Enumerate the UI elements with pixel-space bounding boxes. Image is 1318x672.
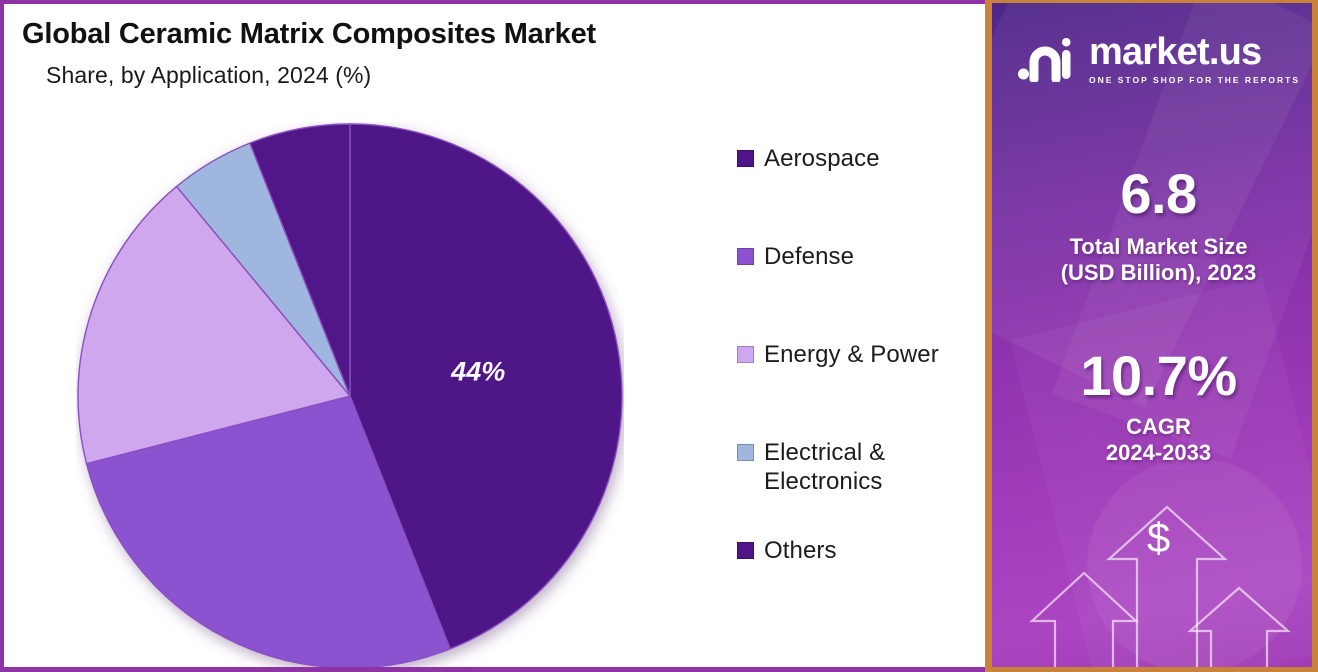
legend-item-energy-power[interactable]: Energy & Power xyxy=(737,340,977,438)
stat-cagr: 10.7% CAGR 2024-2033 xyxy=(992,348,1318,466)
legend: Aerospace Defense Energy & Power Electri… xyxy=(737,144,977,634)
legend-label-aerospace: Aerospace xyxy=(764,144,880,173)
legend-label-defense: Defense xyxy=(764,242,854,271)
page-title: Global Ceramic Matrix Composites Market xyxy=(22,18,822,50)
growth-arrows-icon xyxy=(992,487,1318,667)
legend-swatch-others xyxy=(737,542,754,559)
market-size-caption-line2: (USD Billion), 2023 xyxy=(992,260,1318,286)
legend-label-others: Others xyxy=(764,536,837,565)
cagr-value: 10.7% xyxy=(992,348,1318,404)
pie-chart-svg: 44% xyxy=(76,122,624,670)
pie-slices xyxy=(78,124,622,668)
legend-item-electrical-electronics[interactable]: Electrical & Electronics xyxy=(737,438,977,536)
bar-chart-logo-icon xyxy=(1017,36,1079,82)
stat-market-size: 6.8 Total Market Size (USD Billion), 202… xyxy=(992,166,1318,286)
logo-wordmark: market.us xyxy=(1089,33,1300,71)
market-size-value: 6.8 xyxy=(992,166,1318,222)
title-block: Global Ceramic Matrix Composites Market … xyxy=(22,18,822,89)
chart-panel: Global Ceramic Matrix Composites Market … xyxy=(0,0,985,672)
market-size-caption-line1: Total Market Size xyxy=(992,234,1318,260)
legend-swatch-aerospace xyxy=(737,150,754,167)
cagr-caption-line1: CAGR xyxy=(992,414,1318,440)
brand-logo[interactable]: market.us ONE STOP SHOP FOR THE REPORTS xyxy=(992,33,1318,85)
legend-item-defense[interactable]: Defense xyxy=(737,242,977,340)
logo-text: market.us ONE STOP SHOP FOR THE REPORTS xyxy=(1089,33,1300,85)
legend-item-others[interactable]: Others xyxy=(737,536,977,634)
legend-swatch-energy-power xyxy=(737,346,754,363)
legend-item-aerospace[interactable]: Aerospace xyxy=(737,144,977,242)
legend-swatch-electrical-electronics xyxy=(737,444,754,461)
infographic-root: Global Ceramic Matrix Composites Market … xyxy=(0,0,1318,672)
cagr-caption-line2: 2024-2033 xyxy=(992,440,1318,466)
pie-chart: 44% xyxy=(76,122,624,670)
info-panel: market.us ONE STOP SHOP FOR THE REPORTS … xyxy=(985,0,1318,672)
logo-tagline: ONE STOP SHOP FOR THE REPORTS xyxy=(1089,75,1300,85)
slice-label-aerospace: 44% xyxy=(450,357,505,387)
legend-swatch-defense xyxy=(737,248,754,265)
legend-label-energy-power: Energy & Power xyxy=(764,340,939,369)
chart-subtitle: Share, by Application, 2024 (%) xyxy=(46,62,822,89)
legend-label-electrical-electronics: Electrical & Electronics xyxy=(764,438,977,497)
